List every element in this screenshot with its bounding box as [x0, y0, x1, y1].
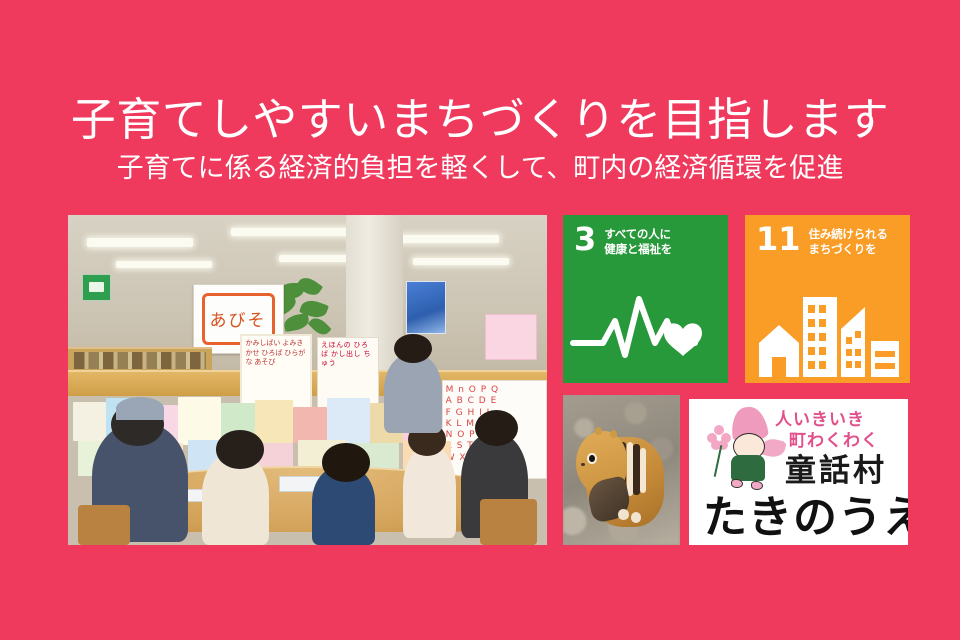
ceiling-lamp	[116, 261, 212, 268]
easel-line: かみしばい	[245, 340, 280, 347]
person-head	[216, 430, 264, 470]
flower-icon	[707, 425, 731, 449]
pink-poster	[485, 314, 538, 360]
cap-icon	[116, 397, 164, 420]
page-title: 子育てしやすいまちづくりを目指します	[0, 96, 960, 143]
sdg-title-line: すべての人に	[604, 228, 672, 243]
person-head	[322, 443, 370, 483]
sdg-number: 3	[574, 226, 596, 254]
person-standing	[384, 354, 441, 433]
chipmunk-nose	[581, 463, 585, 466]
chipmunk-paw	[618, 509, 629, 520]
chair	[78, 505, 131, 545]
sdg-title-line: 住み続けられる	[809, 228, 888, 243]
sdg-title-line: 健康と福祉を	[604, 243, 672, 258]
easel-line: ひろば	[261, 350, 282, 357]
wall-poster	[406, 281, 447, 334]
mascot-body	[731, 455, 765, 481]
library-photo: あびそ かみしばい よみきかせ ひろば ひらがな あそび えほんの ひろば かし…	[68, 215, 547, 545]
person-head	[475, 410, 518, 446]
chipmunk-photo	[563, 395, 680, 545]
poster-line: かし出し	[331, 351, 361, 358]
logo-name-kana: たきのうえ	[703, 481, 908, 545]
exit-sign-icon	[82, 274, 111, 300]
ceiling-lamp	[413, 258, 509, 265]
city-skyline-icon	[745, 281, 910, 377]
person-child-3	[403, 446, 456, 538]
town-logo: 人いきいき 町わくわく 童話村 たきのうえ	[689, 399, 908, 545]
slide-root: 子育てしやすいまちづくりを目指します 子育てに係る経済的負担を軽くして、町内の経…	[0, 0, 960, 640]
chipmunk-paw	[631, 512, 642, 523]
page-subtitle: 子育てに係る経済的負担を軽くして、町内の経済循環を促進	[0, 154, 960, 184]
easel-line: あそび	[254, 359, 275, 366]
ceiling-lamp	[231, 228, 356, 236]
sdg-badge-3: 3 すべての人に 健康と福祉を	[563, 215, 728, 383]
sdg-title: 住み続けられる まちづくりを	[809, 226, 888, 257]
sdg-badge-11: 11 住み続けられる まちづくりを	[745, 215, 910, 383]
sdg-title-line: まちづくりを	[809, 243, 888, 258]
poster-line: えほんの	[321, 342, 351, 349]
chipmunk-eye	[589, 455, 595, 462]
sdg-header: 3 すべての人に 健康と福祉を	[574, 226, 720, 257]
chair	[480, 499, 537, 545]
sdg-header: 11 住み続けられる まちづくりを	[756, 226, 902, 257]
sdg-number: 11	[756, 226, 801, 254]
ceiling-lamp	[87, 238, 192, 247]
sdg-title: すべての人に 健康と福祉を	[604, 226, 672, 257]
heartbeat-icon	[563, 281, 728, 377]
